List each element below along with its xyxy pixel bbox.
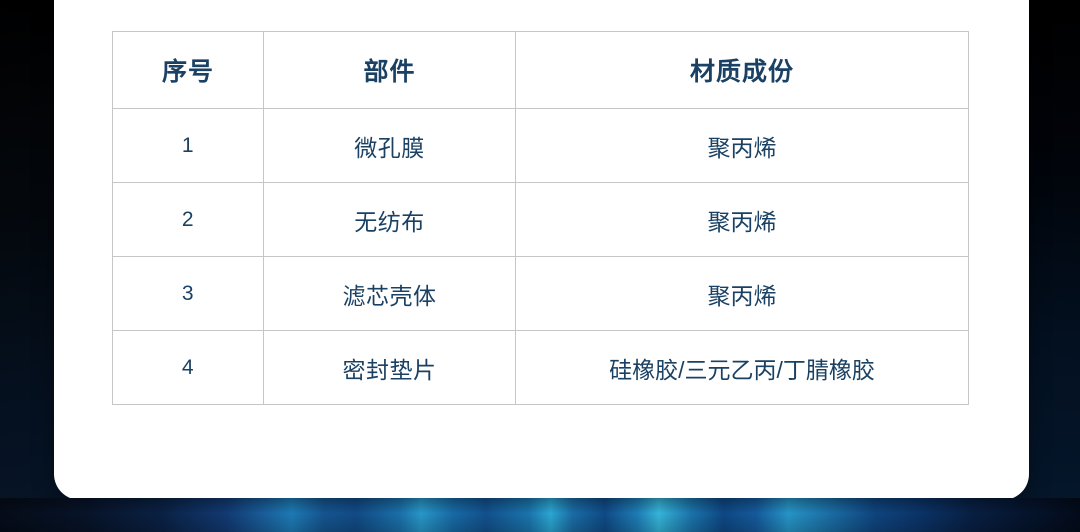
- cell-material: 聚丙烯: [516, 109, 969, 183]
- cell-material: 聚丙烯: [516, 183, 969, 257]
- table-row: 3 滤芯壳体 聚丙烯: [113, 257, 969, 331]
- table-row: 2 无纺布 聚丙烯: [113, 183, 969, 257]
- table-body: 1 微孔膜 聚丙烯 2 无纺布 聚丙烯 3 滤芯壳体 聚丙烯 4 密封垫片 硅橡…: [113, 109, 969, 405]
- cell-material: 聚丙烯: [516, 257, 969, 331]
- cell-material: 硅橡胶/三元乙丙/丁腈橡胶: [516, 331, 969, 405]
- table-row: 1 微孔膜 聚丙烯: [113, 109, 969, 183]
- table-row: 4 密封垫片 硅橡胶/三元乙丙/丁腈橡胶: [113, 331, 969, 405]
- cell-index: 1: [113, 109, 264, 183]
- cell-index: 4: [113, 331, 264, 405]
- cell-index: 2: [113, 183, 264, 257]
- content-card: 序号 部件 材质成份 1 微孔膜 聚丙烯 2 无纺布 聚丙烯 3 滤芯壳体 聚丙…: [54, 0, 1029, 500]
- column-header-material: 材质成份: [516, 32, 969, 109]
- bottom-strip-shading: [0, 498, 1080, 532]
- cell-part: 微孔膜: [264, 109, 516, 183]
- cell-part: 滤芯壳体: [264, 257, 516, 331]
- column-header-index: 序号: [113, 32, 264, 109]
- material-specification-table: 序号 部件 材质成份 1 微孔膜 聚丙烯 2 无纺布 聚丙烯 3 滤芯壳体 聚丙…: [112, 31, 969, 405]
- cell-part: 无纺布: [264, 183, 516, 257]
- table-header: 序号 部件 材质成份: [113, 32, 969, 109]
- table-header-row: 序号 部件 材质成份: [113, 32, 969, 109]
- cell-index: 3: [113, 257, 264, 331]
- cell-part: 密封垫片: [264, 331, 516, 405]
- column-header-part: 部件: [264, 32, 516, 109]
